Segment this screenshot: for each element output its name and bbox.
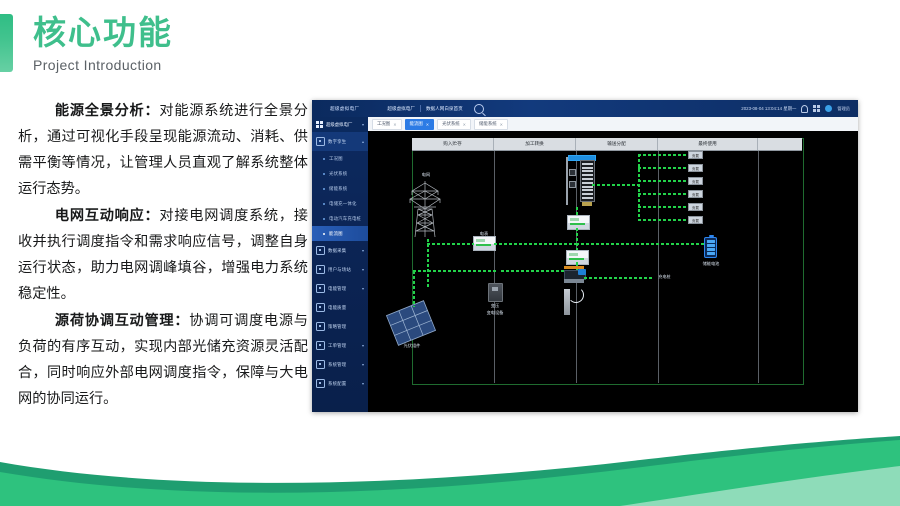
close-icon[interactable]: ✕ bbox=[463, 122, 466, 127]
paragraph-2-lead: 电网互动响应： bbox=[55, 208, 160, 224]
ev-charger-label: 充电桩 bbox=[658, 274, 671, 280]
flow-load-3 bbox=[638, 180, 686, 182]
datetime-display: 2023-08-04 13:04:14 星期一 bbox=[741, 106, 796, 112]
flow-solar-right bbox=[413, 270, 498, 272]
tab-strip[interactable]: 工况图✕ 能流图✕ 光伏系统✕ 储能系统✕ bbox=[368, 117, 858, 131]
page-subtitle: Project Introduction bbox=[33, 57, 173, 73]
close-icon[interactable]: ✕ bbox=[393, 122, 396, 127]
sidebar-subitem-label: 能流图 bbox=[329, 231, 343, 237]
page-title: 核心功能 bbox=[33, 14, 173, 52]
sidebar-item-label: 系统配置 bbox=[328, 381, 346, 387]
sidebar[interactable]: 超级虚拟电厂 ▾ 数字孪生 ▴ 工况图 光伏系统 储能系统 电储充一体化 电动汽… bbox=[312, 117, 369, 412]
column-header-3: 最终使用 bbox=[658, 138, 758, 150]
sidebar-brand-label: 超级虚拟电厂 bbox=[326, 122, 352, 128]
paragraph-3-lead: 源荷协调互动管理： bbox=[55, 313, 189, 329]
chevron-down-icon: ▾ bbox=[362, 122, 364, 127]
heading-accent-bar bbox=[0, 14, 13, 72]
sidebar-subitem-energy-flow[interactable]: 能流图 bbox=[312, 226, 368, 241]
breadcrumb-app[interactable]: 超级虚拟电厂 bbox=[387, 106, 415, 112]
chevron-down-icon: ▾ bbox=[362, 343, 364, 348]
paragraph-1-lead: 能源全景分析： bbox=[55, 103, 160, 119]
server-rack-icon bbox=[558, 155, 596, 207]
flow-load-2 bbox=[638, 167, 686, 169]
tab-label: 能流图 bbox=[410, 121, 423, 127]
tab-pv-system[interactable]: 光伏系统✕ bbox=[437, 119, 471, 130]
column-divider-4 bbox=[758, 151, 759, 383]
sidebar-item-label: 电能管理 bbox=[328, 286, 346, 292]
load-item-6: 负载 bbox=[688, 216, 703, 224]
sidebar-item-power-quality[interactable]: 电能质量 bbox=[312, 298, 368, 317]
app-screenshot: 超级虚拟电厂 超级虚拟电厂 数据人网白泉首页 2023-08-04 13:04:… bbox=[312, 100, 858, 412]
loads-bus-vertical bbox=[638, 154, 640, 219]
diagram-frame bbox=[412, 138, 804, 385]
sidebar-subitem-storage-system[interactable]: 储能系统 bbox=[312, 181, 368, 196]
sidebar-item-workorder[interactable]: 工单管理▾ bbox=[312, 336, 368, 355]
transformer-label-2: 变电设备 bbox=[480, 310, 510, 316]
transformer-label-1: 变压 bbox=[480, 303, 510, 309]
load-item-1: 负载 bbox=[688, 151, 703, 159]
bullet-icon bbox=[323, 218, 325, 220]
flow-load-6 bbox=[638, 219, 686, 221]
power-quality-icon bbox=[316, 303, 325, 312]
chevron-up-icon: ▴ bbox=[362, 139, 364, 144]
breadcrumb-page[interactable]: 数据人网白泉首页 bbox=[426, 106, 463, 112]
power-manage-icon bbox=[316, 284, 325, 293]
slide-heading: 核心功能 Project Introduction bbox=[0, 14, 173, 73]
sidebar-item-label: 电能质量 bbox=[328, 305, 346, 311]
data-collect-icon bbox=[316, 246, 325, 255]
flow-to-battery bbox=[576, 243, 704, 245]
brand-grid-icon bbox=[316, 121, 323, 128]
chevron-down-icon: ▾ bbox=[362, 286, 364, 291]
station-icon bbox=[316, 265, 325, 274]
energy-storage-icon bbox=[704, 237, 717, 258]
flow-rack-to-bus bbox=[592, 184, 640, 186]
sidebar-item-label: 系统管理 bbox=[328, 362, 346, 368]
rack-chip-1 bbox=[569, 169, 576, 176]
ev-connector bbox=[578, 269, 586, 275]
meter-branch-label: 电表 bbox=[470, 231, 498, 237]
column-header-4 bbox=[758, 138, 800, 150]
flow-tower-down bbox=[427, 239, 429, 289]
close-icon[interactable]: ✕ bbox=[500, 122, 503, 127]
flow-meter-to-rack bbox=[494, 243, 576, 245]
sidebar-item-data-collect[interactable]: 数据采集▾ bbox=[312, 241, 368, 260]
sidebar-subitem-label: 电储充一体化 bbox=[329, 201, 357, 207]
sidebar-brand[interactable]: 超级虚拟电厂 ▾ bbox=[312, 117, 368, 132]
paragraph-3: 源荷协调互动管理：协调可调度电源与负荷的有序互动，实现内部光储充资源灵活配合，同… bbox=[18, 308, 308, 412]
sidebar-item-station[interactable]: 用户与场站▾ bbox=[312, 260, 368, 279]
load-item-2: 负载 bbox=[688, 164, 703, 172]
flow-solar-up bbox=[413, 271, 415, 307]
column-header-0: 购入贮存 bbox=[412, 138, 494, 150]
body-copy: 能源全景分析：对能源系统进行全景分析，通过可视化手段呈现能源流动、消耗、供需平衡… bbox=[18, 98, 308, 412]
sidebar-subitem-ev-charger[interactable]: 电动汽车充电桩 bbox=[312, 211, 368, 226]
system-settings-icon bbox=[316, 379, 325, 388]
energy-storage-label: 储能电池 bbox=[695, 261, 727, 267]
avatar[interactable] bbox=[825, 105, 832, 112]
bell-icon[interactable] bbox=[801, 105, 808, 113]
sidebar-subitem-integrated[interactable]: 电储充一体化 bbox=[312, 196, 368, 211]
rack-bracket bbox=[566, 157, 568, 205]
flow-load-1 bbox=[638, 154, 686, 156]
load-item-3: 负载 bbox=[688, 177, 703, 185]
ev-cable-icon bbox=[568, 287, 584, 303]
sidebar-subitem-label: 光伏系统 bbox=[329, 171, 347, 177]
breadcrumb: 超级虚拟电厂 数据人网白泉首页 bbox=[387, 104, 483, 114]
column-header-2: 输送分配 bbox=[576, 138, 658, 150]
tab-gongkuangtu[interactable]: 工况图✕ bbox=[372, 119, 402, 130]
tab-energy-flow[interactable]: 能流图✕ bbox=[405, 119, 435, 130]
bullet-icon bbox=[323, 158, 325, 160]
apps-grid-icon[interactable] bbox=[813, 105, 820, 112]
topbar-right-group: 2023-08-04 13:04:14 星期一 管理员 bbox=[741, 105, 850, 113]
rack-slots bbox=[580, 160, 595, 202]
sidebar-subitem-label: 工况图 bbox=[329, 156, 343, 162]
tab-label: 光伏系统 bbox=[442, 121, 460, 127]
flow-ev-right bbox=[584, 277, 654, 279]
chevron-down-icon: ▾ bbox=[362, 362, 364, 367]
heading-text-group: 核心功能 Project Introduction bbox=[33, 14, 173, 73]
sidebar-item-system-settings[interactable]: 系统配置▾ bbox=[312, 374, 368, 393]
bullet-icon bbox=[323, 233, 325, 235]
chevron-down-icon: ▾ bbox=[362, 248, 364, 253]
strategy-icon bbox=[316, 322, 325, 331]
sidebar-item-power-manage[interactable]: 电能管理▾ bbox=[312, 279, 368, 298]
column-header-1: 加工转换 bbox=[494, 138, 576, 150]
column-divider-1 bbox=[494, 151, 495, 383]
digital-twin-icon bbox=[316, 137, 325, 146]
ev-base bbox=[564, 279, 584, 283]
workorder-icon bbox=[316, 341, 325, 350]
tab-label: 工况图 bbox=[377, 121, 390, 127]
flow-tower-to-meter bbox=[427, 243, 474, 245]
sidebar-subitem-pv-system[interactable]: 光伏系统 bbox=[312, 166, 368, 181]
app-topbar: 超级虚拟电厂 超级虚拟电厂 数据人网白泉首页 2023-08-04 13:04:… bbox=[312, 100, 858, 117]
chevron-down-icon: ▾ bbox=[362, 381, 364, 386]
rack-tag bbox=[582, 202, 592, 206]
paragraph-1: 能源全景分析：对能源系统进行全景分析，通过可视化手段呈现能源流动、消耗、供需平衡… bbox=[18, 98, 308, 202]
search-icon[interactable] bbox=[474, 104, 484, 114]
tab-label: 储能系统 bbox=[479, 121, 497, 127]
flow-rack-to-meter bbox=[576, 207, 578, 216]
meter-main bbox=[567, 215, 590, 230]
sidebar-item-digital-twin[interactable]: 数字孪生 ▴ bbox=[312, 132, 368, 151]
energy-flow-canvas[interactable]: 购入贮存 加工转换 输送分配 最终使用 电网 bbox=[368, 131, 858, 412]
bullet-icon bbox=[323, 203, 325, 205]
bullet-icon bbox=[323, 173, 325, 175]
transformer-cabinet-icon bbox=[488, 283, 503, 302]
tab-storage-system[interactable]: 储能系统✕ bbox=[474, 119, 508, 130]
diagram-column-headers: 购入贮存 加工转换 输送分配 最终使用 bbox=[412, 138, 802, 151]
username-label: 管理员 bbox=[837, 106, 850, 112]
rack-chip-2 bbox=[569, 181, 576, 188]
grid-tower-label: 电网 bbox=[414, 172, 438, 178]
flow-load-4 bbox=[638, 193, 686, 195]
paragraph-2: 电网互动响应：对接电网调度系统，接收并执行调度指令和需求响应信号，调整自身运行状… bbox=[18, 203, 308, 307]
bottom-wave-decoration bbox=[0, 436, 900, 506]
chevron-down-icon: ▾ bbox=[362, 267, 364, 272]
grid-tower-icon bbox=[408, 179, 442, 239]
close-icon[interactable]: ✕ bbox=[426, 122, 429, 127]
sidebar-subitem-gongkuangtu[interactable]: 工况图 bbox=[312, 151, 368, 166]
sidebar-item-label: 用户与场站 bbox=[328, 267, 351, 273]
sidebar-item-label: 数字孪生 bbox=[328, 139, 346, 145]
load-item-4: 负载 bbox=[688, 190, 703, 198]
sidebar-subitem-label: 储能系统 bbox=[329, 186, 347, 192]
system-config-icon bbox=[316, 360, 325, 369]
sidebar-item-label: 策略管理 bbox=[328, 324, 346, 330]
sidebar-item-label: 工单管理 bbox=[328, 343, 346, 349]
sidebar-item-system-manage[interactable]: 系统管理▾ bbox=[312, 355, 368, 374]
flow-load-5 bbox=[638, 206, 686, 208]
breadcrumb-divider bbox=[420, 105, 421, 112]
sidebar-item-strategy[interactable]: 策略管理 bbox=[312, 317, 368, 336]
bullet-icon bbox=[323, 188, 325, 190]
sidebar-item-label: 数据采集 bbox=[328, 248, 346, 254]
meter-branch bbox=[473, 236, 496, 251]
solar-array-label: 光伏组件 bbox=[394, 343, 430, 349]
load-item-5: 负载 bbox=[688, 203, 703, 211]
column-divider-3 bbox=[658, 151, 659, 383]
app-logo-text: 超级虚拟电厂 bbox=[330, 106, 359, 112]
sidebar-subitem-label: 电动汽车充电桩 bbox=[329, 216, 361, 222]
